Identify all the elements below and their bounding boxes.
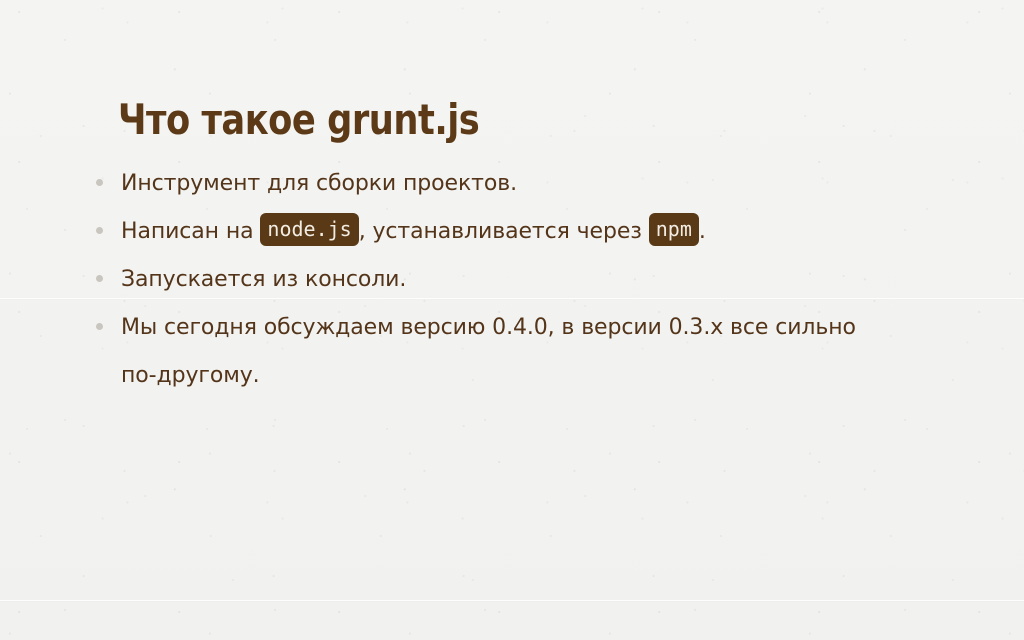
list-item: Запускается из консоли. [96, 256, 976, 304]
list-item: Инструмент для сборки проектов. [96, 160, 976, 208]
slide-title: Что такое grunt.js [118, 96, 479, 144]
list-item-text-segment: , устанавливается через [359, 219, 649, 244]
bullet-dot-icon [96, 179, 103, 186]
list-item-label: Мы сегодня обсуждаем версию 0.4.0, в вер… [121, 304, 881, 400]
list-item-label: Запускается из консоли. [121, 256, 976, 304]
code-token-npm: npm [649, 213, 699, 246]
slide-canvas: Что такое grunt.js Инструмент для сборки… [0, 0, 1024, 640]
list-item-label: Написан на node.js, устанавливается чере… [121, 208, 976, 256]
list-item-text-segment: . [699, 219, 706, 244]
bullet-dot-icon [96, 323, 103, 330]
paper-band-line [0, 600, 1024, 601]
list-item: Написан на node.js, устанавливается чере… [96, 208, 976, 256]
bullet-dot-icon [96, 275, 103, 282]
list-item-label: Инструмент для сборки проектов. [121, 160, 976, 208]
list-item: Мы сегодня обсуждаем версию 0.4.0, в вер… [96, 304, 976, 400]
list-item-text-segment: Написан на [121, 219, 260, 244]
bullet-list: Инструмент для сборки проектов. Написан … [96, 160, 976, 400]
bullet-dot-icon [96, 227, 103, 234]
code-token-nodejs: node.js [260, 213, 358, 246]
